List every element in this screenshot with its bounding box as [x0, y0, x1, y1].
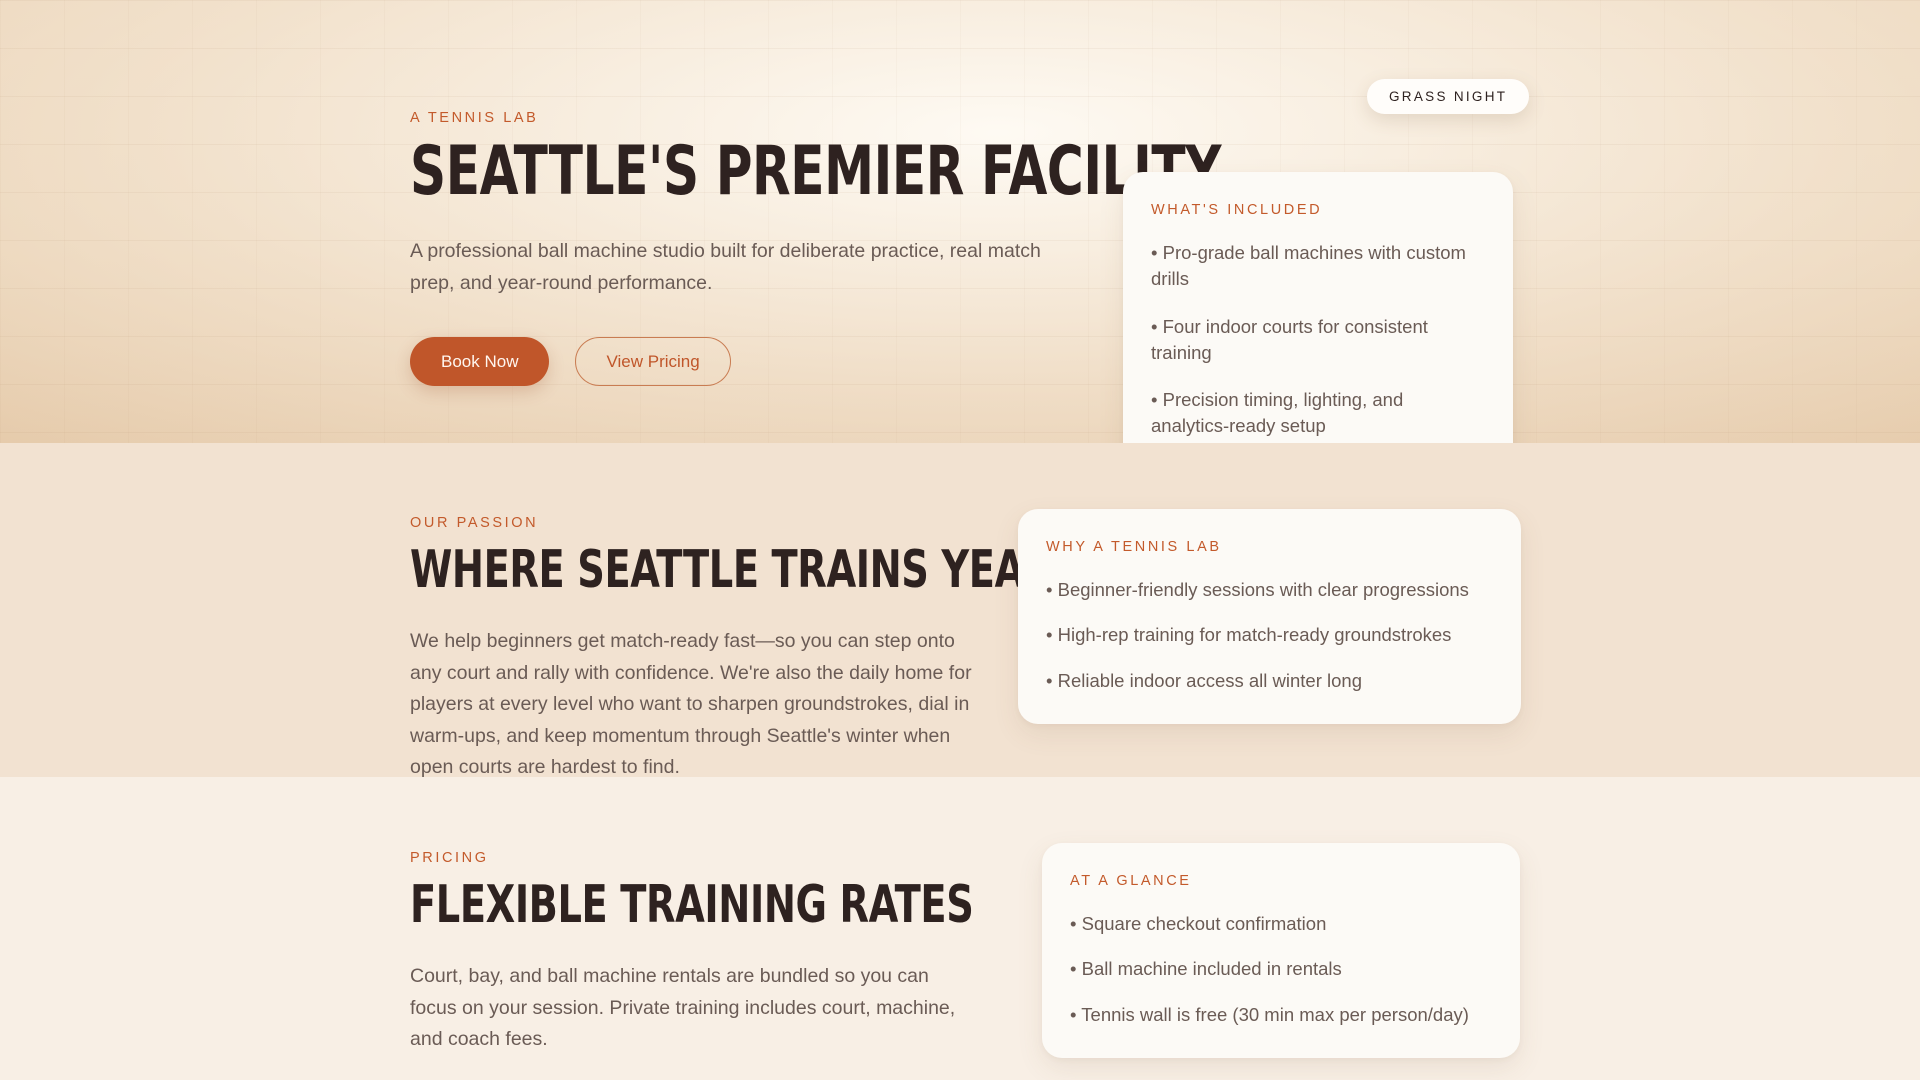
passion-eyebrow: OUR PASSION — [410, 515, 1010, 531]
view-pricing-button[interactable]: View Pricing — [575, 337, 730, 386]
pricing-description: Court, bay, and ball machine rentals are… — [410, 961, 970, 1056]
at-a-glance-list: • Square checkout confirmation • Ball ma… — [1070, 911, 1492, 1028]
pricing-section: PRICING Flexible Training Rates Court, b… — [0, 777, 1920, 1080]
list-item: • Beginner-friendly sessions with clear … — [1046, 577, 1493, 603]
why-a-tennis-lab-card: WHY A TENNIS LAB • Beginner-friendly ses… — [1018, 509, 1521, 724]
hero-text-column: A TENNIS LAB Seattle's Premier Facility … — [410, 110, 1110, 386]
passion-heading: Where Seattle Trains Year-Round — [410, 544, 902, 596]
list-item: • Four indoor courts for consistent trai… — [1151, 314, 1485, 367]
hero-button-row: Book Now View Pricing — [410, 337, 1110, 386]
pricing-eyebrow: PRICING — [410, 850, 1010, 866]
list-item: • Square checkout confirmation — [1070, 911, 1492, 937]
pricing-text-column: PRICING Flexible Training Rates Court, b… — [410, 850, 1010, 1056]
list-item: • Ball machine included in rentals — [1070, 956, 1492, 982]
grass-night-badge[interactable]: GRASS NIGHT — [1367, 79, 1529, 114]
whats-included-title: WHAT'S INCLUDED — [1151, 202, 1485, 218]
list-item: • Pro-grade ball machines with custom dr… — [1151, 240, 1485, 293]
hero-description: A professional ball machine studio built… — [410, 236, 1070, 299]
list-item: • High-rep training for match-ready grou… — [1046, 622, 1493, 648]
passion-section: OUR PASSION Where Seattle Trains Year-Ro… — [0, 443, 1920, 777]
at-a-glance-title: AT A GLANCE — [1070, 873, 1492, 889]
passion-text-column: OUR PASSION Where Seattle Trains Year-Ro… — [410, 515, 1010, 784]
hero-section: GRASS NIGHT A TENNIS LAB Seattle's Premi… — [0, 0, 1920, 443]
why-a-tennis-lab-title: WHY A TENNIS LAB — [1046, 539, 1493, 555]
list-item: • Reliable indoor access all winter long — [1046, 668, 1493, 694]
pricing-heading: Flexible Training Rates — [410, 879, 902, 931]
whats-included-list: • Pro-grade ball machines with custom dr… — [1151, 240, 1485, 440]
list-item: • Precision timing, lighting, and analyt… — [1151, 387, 1485, 440]
why-a-tennis-lab-list: • Beginner-friendly sessions with clear … — [1046, 577, 1493, 694]
book-now-button[interactable]: Book Now — [410, 337, 549, 386]
at-a-glance-card: AT A GLANCE • Square checkout confirmati… — [1042, 843, 1520, 1058]
list-item: • Tennis wall is free (30 min max per pe… — [1070, 1002, 1492, 1028]
page-title: Seattle's Premier Facility — [410, 139, 984, 204]
hero-eyebrow: A TENNIS LAB — [410, 110, 1110, 126]
passion-description: We help beginners get match-ready fast—s… — [410, 626, 975, 784]
